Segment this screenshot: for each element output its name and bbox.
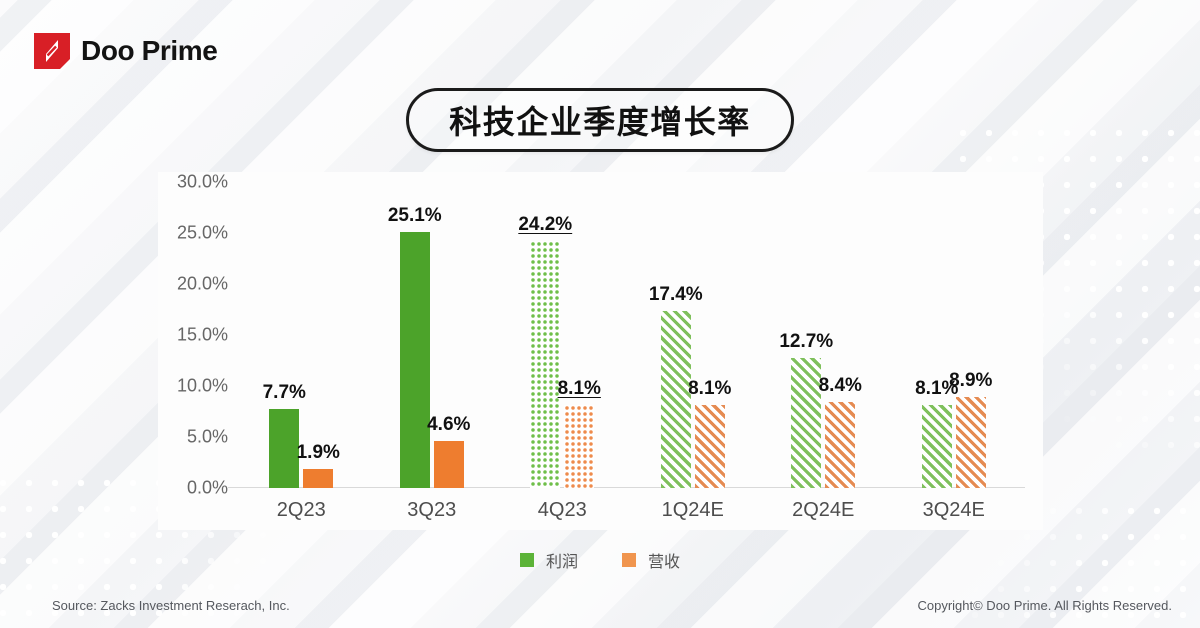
y-tick-label: 5.0% <box>187 427 228 448</box>
bar-rect <box>695 405 725 488</box>
bar-rect <box>922 405 952 488</box>
chart-panel: 30.0%25.0%20.0%15.0%10.0%5.0%0.0% 7.7%1.… <box>158 172 1043 530</box>
bar-rect <box>825 402 855 488</box>
bar-value-label: 8.4% <box>819 375 862 397</box>
bar-value-label: 7.7% <box>263 382 306 404</box>
bar-营收[interactable]: 8.1% <box>695 182 725 488</box>
bar-rect <box>400 232 430 488</box>
x-tick-label: 3Q24E <box>889 499 1020 522</box>
chart-title-pill: 科技企业季度增长率 <box>406 88 794 152</box>
bar-利润[interactable]: 24.2% <box>530 182 560 488</box>
bar-营收[interactable]: 1.9% <box>303 182 333 488</box>
plot-area: 30.0%25.0%20.0%15.0%10.0%5.0%0.0% 7.7%1.… <box>236 182 1019 488</box>
bar-利润[interactable]: 17.4% <box>661 182 691 488</box>
bar-group: 24.2%8.1% <box>497 182 628 488</box>
source-note: Source: Zacks Investment Reserach, Inc. <box>52 598 290 613</box>
brand-logo: Doo Prime <box>34 33 217 69</box>
x-tick-label: 2Q24E <box>758 499 889 522</box>
y-tick-label: 15.0% <box>177 325 228 346</box>
bar-value-label: 8.9% <box>949 370 992 392</box>
bar-利润[interactable]: 25.1% <box>400 182 430 488</box>
chart-legend: 利润营收 <box>0 548 1200 572</box>
y-tick-label: 25.0% <box>177 223 228 244</box>
bar-group: 17.4%8.1% <box>628 182 759 488</box>
x-tick-label: 2Q23 <box>236 499 367 522</box>
copyright-note: Copyright© Doo Prime. All Rights Reserve… <box>917 598 1172 613</box>
bar-group: 8.1%8.9% <box>889 182 1020 488</box>
y-tick-label: 10.0% <box>177 376 228 397</box>
legend-item[interactable]: 利润 <box>520 548 578 572</box>
bar-rect <box>791 358 821 488</box>
bar-rect <box>303 469 333 488</box>
legend-swatch <box>520 553 534 567</box>
bar-营收[interactable]: 4.6% <box>434 182 464 488</box>
bar-group: 7.7%1.9% <box>236 182 367 488</box>
bar-rect <box>530 241 560 488</box>
bar-group: 12.7%8.4% <box>758 182 889 488</box>
bar-group: 25.1%4.6% <box>367 182 498 488</box>
bar-营收[interactable]: 8.1% <box>564 182 594 488</box>
bar-利润[interactable]: 8.1% <box>922 182 952 488</box>
bar-rect <box>434 441 464 488</box>
y-tick-label: 30.0% <box>177 172 228 193</box>
bar-groups: 7.7%1.9%25.1%4.6%24.2%8.1%17.4%8.1%12.7%… <box>236 182 1019 488</box>
doo-prime-mark-icon <box>34 33 70 69</box>
page-title: 科技企业季度增长率 <box>449 97 751 143</box>
bar-rect <box>956 397 986 488</box>
y-tick-label: 0.0% <box>187 478 228 499</box>
bar-rect <box>564 405 594 488</box>
x-tick-label: 1Q24E <box>628 499 759 522</box>
bar-value-label: 8.1% <box>688 378 731 400</box>
bar-rect <box>269 409 299 488</box>
bar-利润[interactable]: 12.7% <box>791 182 821 488</box>
brand-name: Doo Prime <box>81 35 217 67</box>
bar-利润[interactable]: 7.7% <box>269 182 299 488</box>
bar-rect <box>661 311 691 488</box>
bar-营收[interactable]: 8.4% <box>825 182 855 488</box>
legend-swatch <box>622 553 636 567</box>
legend-item[interactable]: 营收 <box>622 548 680 572</box>
x-axis-labels: 2Q233Q234Q231Q24E2Q24E3Q24E <box>236 499 1019 522</box>
legend-label: 营收 <box>648 548 680 572</box>
legend-label: 利润 <box>546 548 578 572</box>
bar-value-label: 4.6% <box>427 414 470 436</box>
x-tick-label: 4Q23 <box>497 499 628 522</box>
y-tick-label: 20.0% <box>177 274 228 295</box>
x-tick-label: 3Q23 <box>367 499 498 522</box>
bar-营收[interactable]: 8.9% <box>956 182 986 488</box>
bar-value-label: 8.1% <box>558 378 601 400</box>
bar-value-label: 1.9% <box>297 442 340 464</box>
